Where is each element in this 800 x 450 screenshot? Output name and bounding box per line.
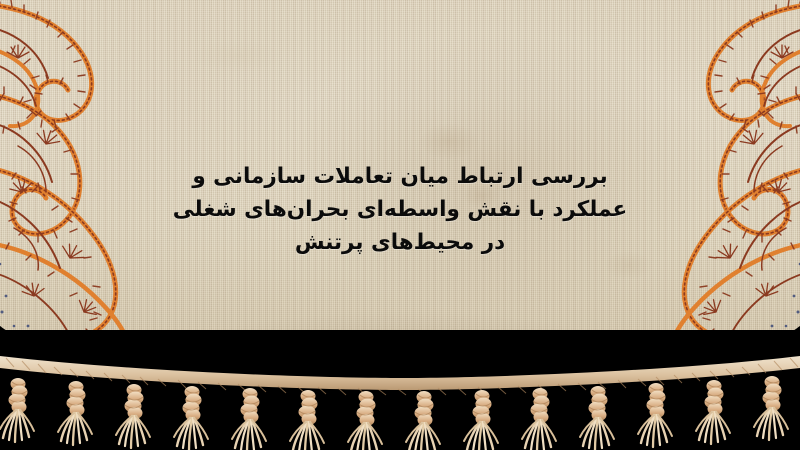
slide-title: بررسی ارتباط میان تعاملات سازمانی و عملک… bbox=[0, 160, 800, 259]
title-line-3: در محیط‌های پرتنش bbox=[0, 226, 800, 259]
title-line-1: بررسی ارتباط میان تعاملات سازمانی و bbox=[0, 160, 800, 193]
knotted-tassel-fringe bbox=[0, 352, 800, 450]
title-slide: بررسی ارتباط میان تعاملات سازمانی و عملک… bbox=[0, 0, 800, 450]
title-line-2: عملکرد با نقش واسطه‌ای بحران‌های شغلی bbox=[0, 193, 800, 226]
